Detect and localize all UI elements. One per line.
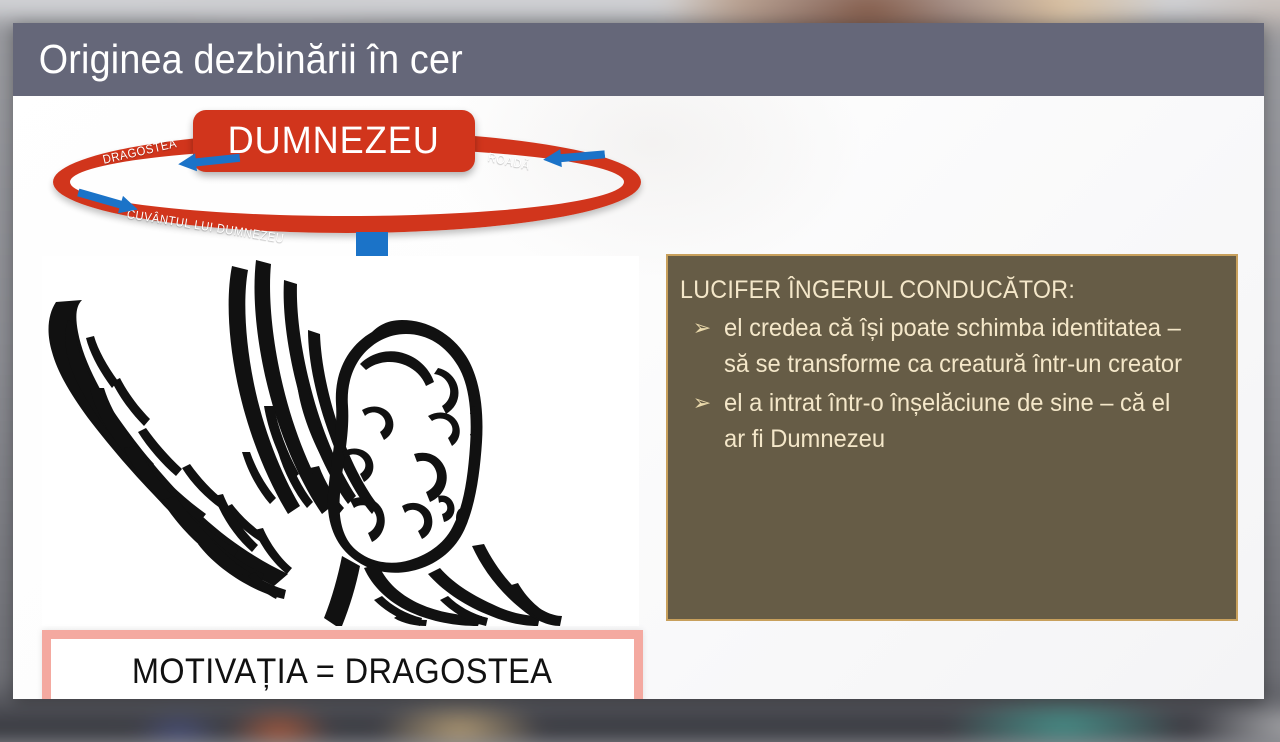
page-title: Originea dezbinării în cer bbox=[13, 36, 463, 83]
motivation-banner: MOTIVAȚIA = DRAGOSTEA bbox=[42, 630, 643, 699]
list-item: ➢ el a intrat într-o înșelăciune de sine… bbox=[680, 385, 1222, 458]
arrow-bullet-icon: ➢ bbox=[680, 310, 724, 344]
lucifer-bullet-text: el credea că își poate schimba identitat… bbox=[724, 310, 1197, 383]
angel-image-panel bbox=[42, 256, 639, 626]
slide-title-bar: Originea dezbinării în cer bbox=[13, 23, 1264, 96]
angel-line-art-icon bbox=[42, 256, 639, 626]
list-item: ➢ el credea că își poate schimba identit… bbox=[680, 310, 1222, 383]
cycle-diagram: DUMNEZEU DRAGOSTEA ROADĂ CUVÂNTUL LUI DU… bbox=[35, 109, 655, 239]
motivation-text: MOTIVAȚIA = DRAGOSTEA bbox=[132, 652, 552, 692]
presentation-slide: Originea dezbinării în cer DUMNEZEU DRAG… bbox=[13, 23, 1264, 699]
lucifer-text-box: LUCIFER ÎNGERUL CONDUCĂTOR: ➢ el credea … bbox=[666, 254, 1238, 621]
lucifer-bullet-text: el a intrat într-o înșelăciune de sine –… bbox=[724, 385, 1197, 458]
lucifer-heading: LUCIFER ÎNGERUL CONDUCĂTOR: bbox=[680, 276, 1184, 305]
dumnezeu-label: DUMNEZEU bbox=[228, 120, 440, 163]
arrow-bullet-icon: ➢ bbox=[680, 385, 724, 419]
